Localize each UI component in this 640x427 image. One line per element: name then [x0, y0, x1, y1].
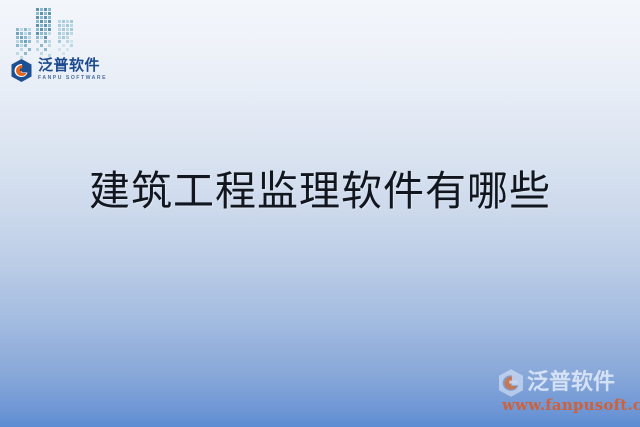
- brand-logo: 泛普软件 FANPU SOFTWARE: [9, 57, 106, 83]
- fanpu-logo-mark-icon: [9, 58, 34, 83]
- watermark-brand-name: 泛普软件: [527, 371, 615, 395]
- watermark-logo-svg: [496, 368, 526, 398]
- watermark: 泛普软件 www.fanpusoft.com: [496, 365, 636, 421]
- page-title: 建筑工程监理软件有哪些: [0, 163, 640, 219]
- watermark-logo-mark-icon: [496, 368, 526, 398]
- slide-canvas: 泛普软件 FANPU SOFTWARE 建筑工程监理软件有哪些 泛普软件 www…: [0, 0, 640, 427]
- brand-name-en: FANPU SOFTWARE: [38, 76, 107, 81]
- skyline-icon: [14, 2, 80, 60]
- watermark-brand-row: 泛普软件: [496, 368, 615, 398]
- logo-mark-svg: [9, 58, 34, 83]
- pixel-skyline-graphic: [14, 2, 80, 60]
- brand-logo-text: 泛普软件 FANPU SOFTWARE: [38, 57, 106, 81]
- brand-name-cn: 泛普软件: [38, 57, 106, 74]
- watermark-url: www.fanpusoft.com: [502, 396, 640, 414]
